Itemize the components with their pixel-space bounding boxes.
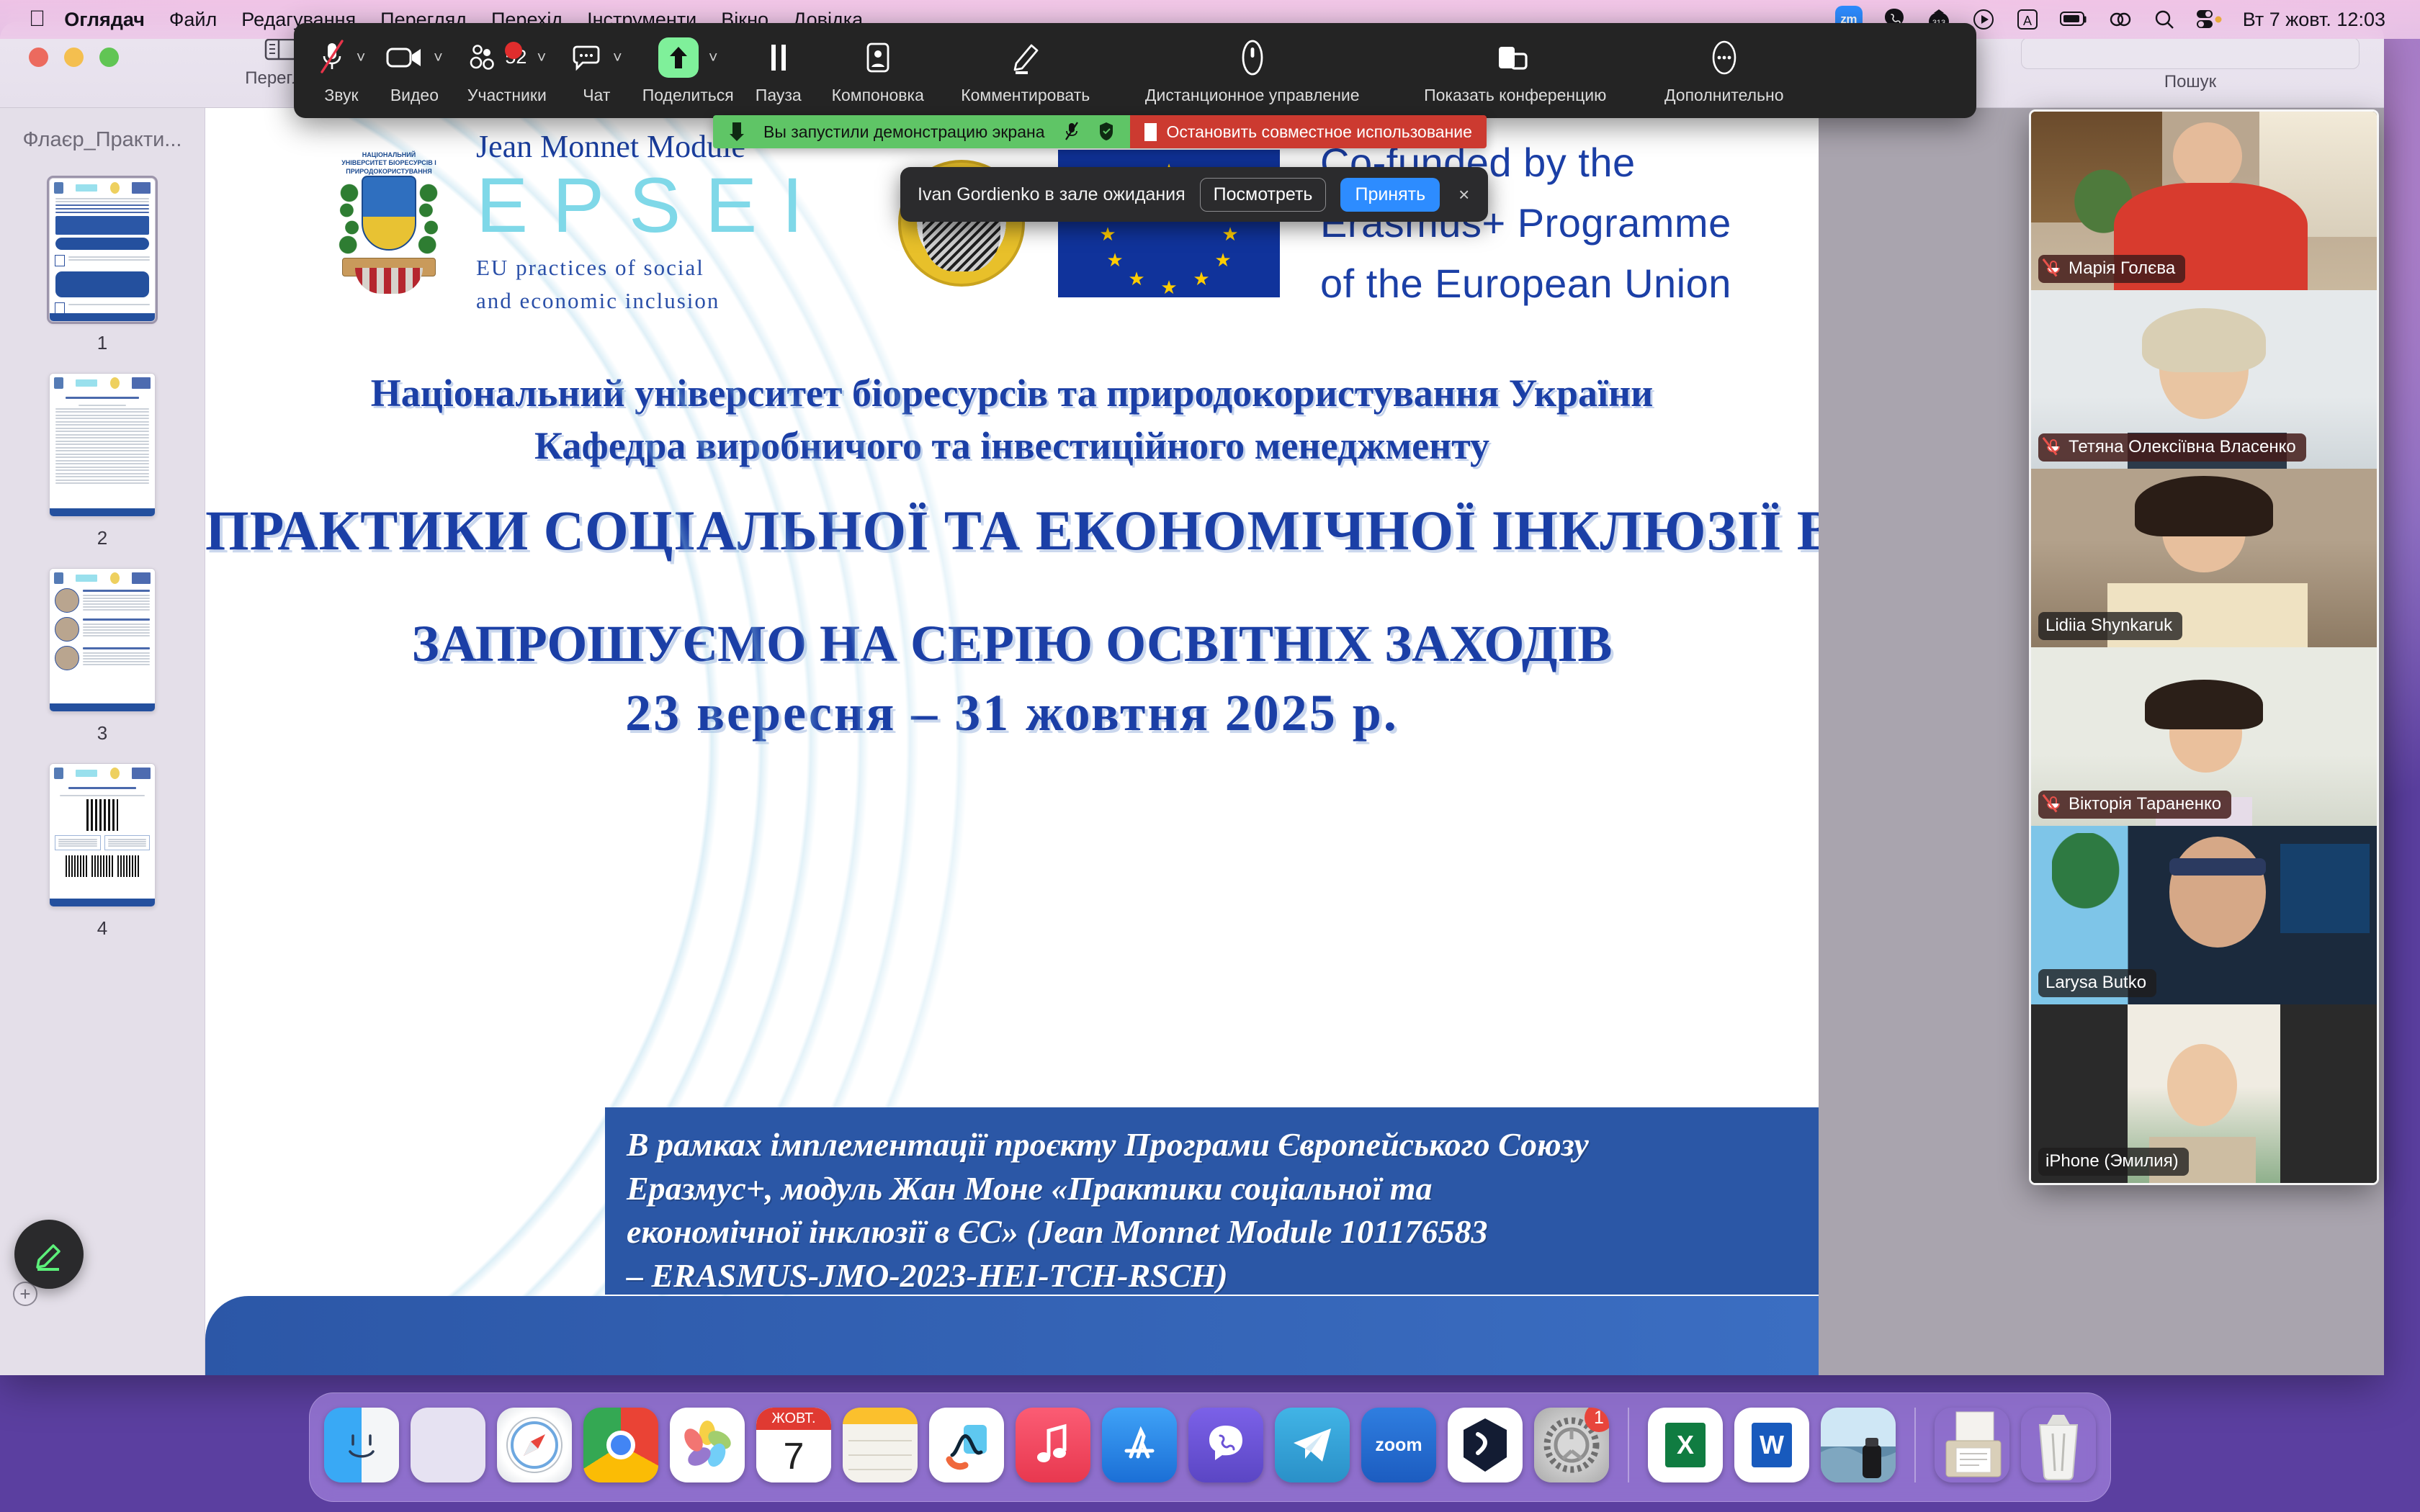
dock-item-calendar[interactable]: ЖОВТ. 7 bbox=[756, 1408, 831, 1482]
input-source-A-icon[interactable]: A bbox=[2015, 7, 2040, 32]
zoom-video-button[interactable]: ˅ Видео bbox=[376, 37, 453, 105]
mini-qr-code bbox=[86, 799, 118, 831]
waiting-room-admit-button[interactable]: Принять bbox=[1340, 178, 1440, 212]
dock-item-appstore[interactable] bbox=[1102, 1408, 1177, 1482]
thumbnail-page-3[interactable] bbox=[49, 568, 156, 712]
zoom-audio-label: Звук bbox=[324, 86, 358, 105]
zoom-show-meeting-button[interactable]: Показать конференцию bbox=[1397, 37, 1634, 105]
participants-alert-badge bbox=[505, 42, 522, 59]
dock-item-freeform[interactable] bbox=[929, 1408, 1004, 1482]
battery-icon[interactable] bbox=[2060, 10, 2089, 29]
mini-portrait bbox=[55, 646, 79, 670]
photos-pinwheel-icon bbox=[678, 1416, 737, 1475]
zoom-audio-button[interactable]: ˅ Звук bbox=[307, 37, 376, 105]
zoom-layout-button[interactable]: Компоновка bbox=[813, 37, 943, 105]
epsei-tagline-1: EU practices of social bbox=[476, 251, 865, 285]
thumbnail-number: 2 bbox=[97, 527, 107, 549]
mini-epsei-icon bbox=[76, 575, 97, 582]
finder-icon bbox=[340, 1420, 383, 1470]
calendar-month: ЖОВТ. bbox=[756, 1408, 831, 1430]
preview-thumbnail-sidebar[interactable]: Флаєр_Практи... bbox=[0, 108, 205, 1375]
chevron-down-icon[interactable]: ˅ bbox=[709, 48, 718, 67]
chevron-down-icon[interactable]: ˅ bbox=[434, 48, 443, 67]
chat-bubble-icon bbox=[571, 42, 603, 73]
close-window-button[interactable] bbox=[29, 48, 48, 67]
dock-item-zoom[interactable]: zoom bbox=[1361, 1408, 1436, 1482]
mini-eu-icon bbox=[132, 377, 151, 389]
chevron-down-icon[interactable]: ˅ bbox=[357, 48, 366, 67]
participant-name-badge: Вікторія Тараненко bbox=[2038, 791, 2231, 819]
music-note-icon bbox=[1033, 1423, 1073, 1467]
participants-icon bbox=[467, 43, 499, 72]
zoom-more-label: Дополнительно bbox=[1664, 86, 1784, 105]
thumbnail-number: 1 bbox=[97, 332, 107, 354]
zoom-share-button[interactable]: ˅ Поделиться bbox=[632, 37, 744, 105]
viber-icon bbox=[1201, 1420, 1251, 1470]
flyer-page: НАЦІОНАЛЬНИЙ УНІВЕРСИТЕТ БІОРЕСУРСІВ І П… bbox=[205, 108, 1819, 1375]
mini-crest-icon bbox=[54, 768, 63, 779]
document-title: Флаєр_Практи... bbox=[0, 108, 205, 159]
thumbnail-number: 3 bbox=[97, 722, 107, 744]
word-icon: W bbox=[1752, 1423, 1792, 1467]
close-icon[interactable]: × bbox=[1454, 184, 1474, 206]
mic-muted-icon bbox=[2045, 438, 2061, 456]
video-tile-active-speaker[interactable]: Larysa Butko bbox=[2031, 826, 2377, 1004]
thumbnail-item[interactable]: 4 bbox=[0, 763, 205, 940]
dock-item-music[interactable] bbox=[1016, 1408, 1090, 1482]
participant-name-badge: Larysa Butko bbox=[2038, 969, 2156, 997]
mini-portrait bbox=[55, 588, 79, 613]
search-input[interactable] bbox=[2021, 37, 2359, 69]
control-center-icon[interactable] bbox=[2109, 9, 2133, 30]
dock-item-preview-document[interactable] bbox=[1821, 1408, 1896, 1482]
pencil-icon bbox=[30, 1236, 68, 1273]
sharing-indicator[interactable]: Вы запустили демонстрацию экрана bbox=[713, 115, 1130, 148]
eu-funding-line-3: of the European Union bbox=[1320, 253, 1731, 314]
thumbnail-page-2[interactable] bbox=[49, 373, 156, 517]
stop-square-icon bbox=[1144, 123, 1157, 141]
shield-check-icon[interactable] bbox=[1098, 121, 1114, 143]
share-screen-arrow-icon bbox=[658, 37, 699, 78]
markup-pencil-button[interactable] bbox=[14, 1220, 84, 1289]
safari-compass-icon bbox=[503, 1414, 565, 1476]
zoom-participants-button[interactable]: 52 ˅ Участники bbox=[453, 37, 561, 105]
participant-name-badge: Lidiia Shynkaruk bbox=[2038, 612, 2182, 640]
dock-item-documents-stack[interactable] bbox=[1935, 1408, 2009, 1482]
video-tile[interactable]: Вікторія Тараненко bbox=[2031, 647, 2377, 826]
preview-search[interactable]: Пошук bbox=[2021, 37, 2359, 92]
zoom-wordmark: zoom bbox=[1375, 1435, 1422, 1456]
mini-qr-code bbox=[117, 855, 139, 877]
dock-separator bbox=[1914, 1408, 1916, 1482]
dock-item-telegram[interactable] bbox=[1275, 1408, 1350, 1482]
macos-dock[interactable]: ЖОВТ. 7 bbox=[309, 1392, 2111, 1502]
epsei-tagline-2: and economic inclusion bbox=[476, 284, 865, 318]
thumbnail-number: 4 bbox=[97, 917, 107, 940]
zoom-participants-label: Участники bbox=[467, 86, 547, 105]
layout-icon bbox=[864, 41, 892, 74]
sidebar-icon bbox=[264, 36, 297, 62]
participant-name: Вікторія Тараненко bbox=[2069, 794, 2221, 814]
video-tile[interactable]: Lidiia Shynkaruk bbox=[2031, 469, 2377, 647]
participant-name: Larysa Butko bbox=[2045, 973, 2146, 993]
dock-item-chrome[interactable] bbox=[583, 1408, 658, 1482]
dock-item-trash[interactable] bbox=[2021, 1408, 2096, 1482]
waiting-room-view-button[interactable]: Посмотреть bbox=[1200, 178, 1327, 212]
description-line-1: В рамках імплементації проєкту Програми … bbox=[627, 1123, 1801, 1167]
chevron-down-icon[interactable]: ˅ bbox=[613, 48, 622, 67]
participant-name-badge: iPhone (Эмилия) bbox=[2038, 1148, 2189, 1176]
sharing-status-text: Вы запустили демонстрацию экрана bbox=[763, 122, 1045, 142]
annotate-pencil-icon bbox=[1009, 40, 1042, 75]
mini-epsei-icon bbox=[76, 379, 97, 387]
university-name-line-1: Національний університет біоресурсів та … bbox=[205, 367, 1819, 420]
dock-item-notes[interactable] bbox=[843, 1408, 918, 1482]
flyer-dates: 23 вересня – 31 жовтня 2025 р. bbox=[205, 683, 1819, 743]
mini-qr-code bbox=[91, 855, 113, 877]
dock-item-finder[interactable] bbox=[324, 1408, 399, 1482]
play-menu-icon[interactable] bbox=[1972, 8, 1995, 31]
toggles-icon[interactable] bbox=[2195, 9, 2223, 30]
microphone-muted-icon bbox=[318, 39, 346, 76]
svg-text:A: A bbox=[2023, 14, 2032, 28]
zoom-pause-button[interactable]: Пауза bbox=[744, 37, 813, 105]
mini-portrait bbox=[55, 617, 79, 642]
flyer-bottom-band bbox=[205, 1296, 1819, 1375]
mini-qr-code bbox=[66, 855, 87, 877]
preview-photo-icon bbox=[1821, 1408, 1896, 1482]
show-meeting-icon bbox=[1497, 41, 1533, 74]
search-label: Пошук bbox=[2021, 72, 2359, 92]
appstore-icon bbox=[1116, 1422, 1162, 1468]
dock-item-excel[interactable]: X bbox=[1648, 1408, 1723, 1482]
mini-epsei-icon bbox=[76, 770, 97, 777]
nubip-crest-icon: НАЦІОНАЛЬНИЙ УНІВЕРСИТЕТ БІОРЕСУРСІВ І П… bbox=[335, 151, 443, 295]
zoom-video-label: Видео bbox=[390, 86, 439, 105]
dock-item-word[interactable]: W bbox=[1734, 1408, 1809, 1482]
participant-name: iPhone (Эмилия) bbox=[2045, 1151, 2179, 1171]
dock-item-viber[interactable] bbox=[1188, 1408, 1263, 1482]
more-ellipsis-icon bbox=[1706, 40, 1742, 76]
mini-eu-icon bbox=[132, 572, 151, 584]
thumbnail-item[interactable]: 1 bbox=[0, 178, 205, 354]
notes-icon bbox=[843, 1408, 918, 1482]
zoom-chat-label: Чат bbox=[583, 86, 610, 105]
pause-icon bbox=[766, 42, 792, 73]
participants-video-strip[interactable]: Марія Голєва Тетяна Олексіївна Власенко … bbox=[2031, 112, 2377, 1183]
mini-eu-icon bbox=[132, 768, 151, 779]
mini-eu-icon bbox=[132, 182, 151, 194]
zoom-more-button[interactable]: Дополнительно bbox=[1634, 37, 1814, 105]
participant-name-badge: Тетяна Олексіївна Власенко bbox=[2038, 433, 2306, 462]
freeform-icon bbox=[939, 1418, 994, 1472]
mini-epsei-icon bbox=[76, 184, 97, 192]
epsei-wordmark: EPSEI bbox=[476, 168, 865, 243]
spotlight-search-icon[interactable] bbox=[2154, 9, 2175, 30]
participant-name-badge: Марія Голєва bbox=[2038, 255, 2185, 283]
participant-name: Марія Голєва bbox=[2069, 258, 2175, 279]
video-tile[interactable]: iPhone (Эмилия) bbox=[2031, 1004, 2377, 1183]
zoom-layout-label: Компоновка bbox=[832, 86, 924, 105]
university-name-line-2: Кафедра виробничого та інвестиційного ме… bbox=[205, 420, 1819, 472]
mini-seal-icon bbox=[110, 572, 120, 584]
documents-stack-icon bbox=[1935, 1408, 2009, 1482]
apple-menu-icon[interactable]:  bbox=[29, 7, 45, 30]
menu-app-name[interactable]: Оглядач bbox=[64, 9, 145, 31]
excel-icon: X bbox=[1665, 1423, 1706, 1467]
mic-muted-icon bbox=[2045, 795, 2061, 814]
eu-funding-text: Co-funded by the Erasmus+ Programme of t… bbox=[1313, 132, 1731, 314]
waiting-room-message: Ivan Gordienko в зале ожидания bbox=[918, 184, 1186, 205]
screen-share-status-bar[interactable]: Вы запустили демонстрацию экрана Останов… bbox=[713, 115, 1487, 148]
waiting-room-toast[interactable]: Ivan Gordienko в зале ожидания Посмотрет… bbox=[900, 167, 1488, 222]
calendar-day: 7 bbox=[756, 1430, 831, 1482]
video-tile[interactable]: Тетяна Олексіївна Власенко bbox=[2031, 290, 2377, 469]
zoom-chat-button[interactable]: ˅ Чат bbox=[561, 37, 632, 105]
mic-muted-small-icon[interactable] bbox=[1064, 121, 1080, 143]
remote-control-icon bbox=[1240, 40, 1265, 76]
mini-seal-icon bbox=[110, 768, 120, 779]
flyer-invite-text: ЗАПРОШУЄМО НА СЕРІЮ ОСВІТНІХ ЗАХОДІВ bbox=[205, 609, 1819, 679]
zoom-pause-label: Пауза bbox=[756, 86, 802, 105]
telegram-paper-plane-icon bbox=[1289, 1424, 1335, 1466]
trash-icon bbox=[2022, 1409, 2094, 1481]
stop-share-button[interactable]: Остановить совместное использование bbox=[1130, 115, 1487, 148]
camera-icon bbox=[386, 45, 423, 71]
stop-share-label: Остановить совместное использование bbox=[1167, 122, 1472, 142]
description-line-2: Еразмус+, модуль Жан Моне «Практики соці… bbox=[627, 1167, 1801, 1211]
preview-app-window: Перегл... Пошук Флаєр_Практи... bbox=[0, 22, 2384, 1375]
zoom-share-label: Поделиться bbox=[642, 86, 734, 105]
thumbnail-item[interactable]: 3 bbox=[0, 568, 205, 744]
mini-crest-icon bbox=[54, 182, 63, 194]
flyer-main-title: ПРАКТИКИ СОЦІАЛЬНОЇ ТА ЕКОНОМІЧНОЇ ІНКЛЮ… bbox=[205, 498, 1819, 563]
minimize-window-button[interactable] bbox=[64, 48, 84, 67]
zoom-annotate-label: Комментировать bbox=[961, 86, 1090, 105]
share-arrow-down-icon bbox=[729, 121, 745, 143]
dock-separator bbox=[1628, 1408, 1629, 1482]
zoom-remote-control-button[interactable]: Дистанционное управление bbox=[1108, 37, 1397, 105]
mini-seal-icon bbox=[110, 377, 120, 389]
description-line-4: – ERASMUS-JMO-2023-HEI-TCH-RSCH) bbox=[627, 1254, 1801, 1298]
dock-item-system-settings[interactable]: 1 bbox=[1534, 1408, 1609, 1482]
chevron-down-icon[interactable]: ˅ bbox=[537, 48, 546, 67]
mini-seal-icon bbox=[110, 182, 120, 194]
menu-file[interactable]: Файл bbox=[169, 9, 217, 31]
flyer-description-box: В рамках імплементації проєкту Програми … bbox=[605, 1107, 1819, 1295]
dock-item-arc[interactable] bbox=[1448, 1408, 1523, 1482]
zoom-remote-control-label: Дистанционное управление bbox=[1145, 86, 1360, 105]
zoom-meeting-toolbar[interactable]: ˅ Звук ˅ Видео 52 ˅ bbox=[294, 23, 1976, 118]
description-line-3: економічної інклюзії в ЄС» (Jean Monnet … bbox=[627, 1210, 1801, 1254]
chrome-icon bbox=[606, 1431, 635, 1459]
mic-muted-icon bbox=[2045, 259, 2061, 278]
menubar-clock[interactable]: Вт 7 жовт. 12:03 bbox=[2243, 9, 2385, 31]
mini-crest-icon bbox=[54, 377, 63, 389]
zoom-show-meeting-label: Показать конференцию bbox=[1424, 86, 1606, 105]
epsei-logo-block: Jean Monnet Module EPSEI EU practices of… bbox=[476, 128, 865, 318]
thumbnail-item[interactable]: 2 bbox=[0, 373, 205, 549]
participant-name: Lidiia Shynkaruk bbox=[2045, 616, 2172, 636]
mini-crest-icon bbox=[54, 572, 63, 584]
thumbnail-page-1[interactable] bbox=[49, 178, 156, 322]
dock-item-photos[interactable] bbox=[670, 1408, 745, 1482]
maximize-window-button[interactable] bbox=[99, 48, 119, 67]
dock-item-safari[interactable] bbox=[497, 1408, 572, 1482]
video-tile[interactable]: Марія Голєва bbox=[2031, 112, 2377, 290]
zoom-annotate-button[interactable]: Комментировать bbox=[943, 37, 1108, 105]
arc-browser-icon bbox=[1459, 1416, 1511, 1475]
window-traffic-lights[interactable] bbox=[29, 48, 119, 67]
thumbnail-page-4[interactable] bbox=[49, 763, 156, 907]
participant-name: Тетяна Олексіївна Власенко bbox=[2069, 437, 2296, 457]
dock-item-launchpad[interactable] bbox=[411, 1408, 485, 1482]
